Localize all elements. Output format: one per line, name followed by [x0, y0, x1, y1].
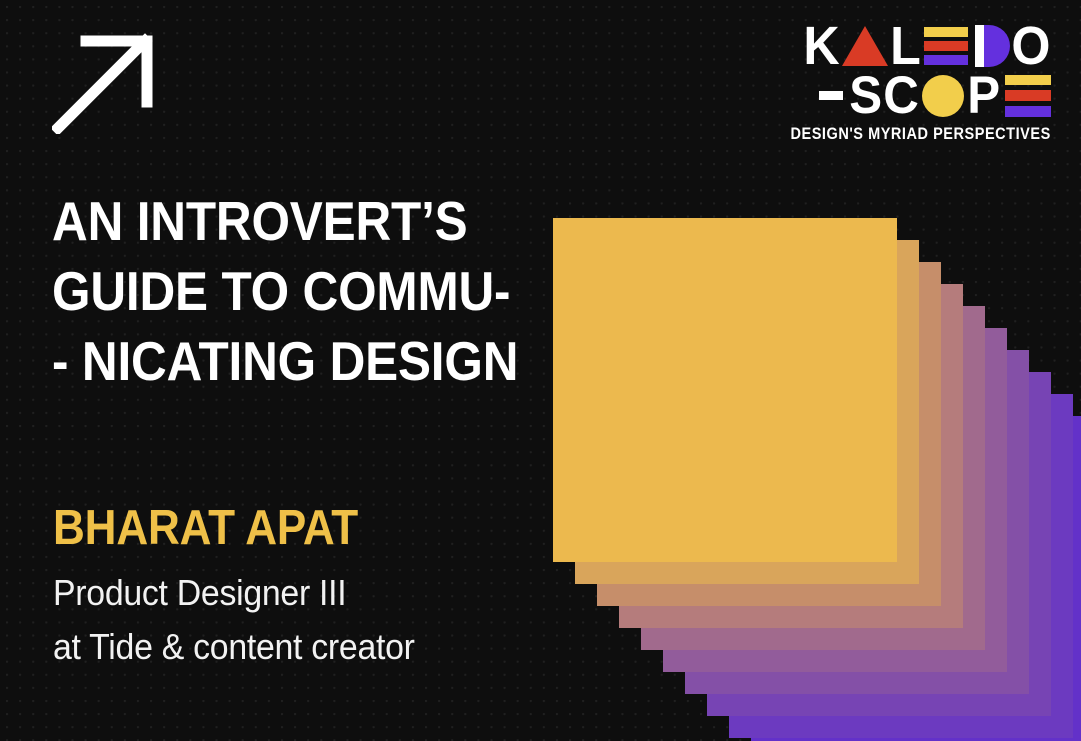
- logo-letter-e2-bars-icon: [1005, 75, 1051, 117]
- speaker-name: BHARAT APAT: [53, 500, 476, 556]
- logo-letter-a-triangle-icon: [842, 26, 888, 66]
- title-line-1: AN INTROVERT’S: [52, 186, 475, 256]
- logo-letter-s: S: [849, 73, 881, 119]
- title-line-3: - NICATING DESIGN: [52, 326, 475, 396]
- speaker-role: Product Designer III: [53, 566, 495, 620]
- logo-letter-c: C: [884, 73, 919, 119]
- page-title: AN INTROVERT’S GUIDE TO COMMU- - NICATIN…: [52, 186, 522, 396]
- logo-letter-o-disc-icon: [922, 75, 964, 117]
- arrow-up-right-icon: [52, 30, 156, 134]
- layered-card-stack: [553, 218, 897, 562]
- speaker-announcement-poster: K L O S C P DESIGN'S MYRIAD PERSPECTIVES…: [0, 0, 1081, 741]
- logo-line-kaleido: K L O: [802, 22, 1051, 69]
- logo-letter-o: O: [1011, 23, 1049, 69]
- logo-letter-d-halfdisc-icon: [984, 25, 1010, 67]
- speaker-info: BHARAT APAT Product Designer III at Tide…: [53, 500, 523, 674]
- logo-line-scope: S C P: [819, 73, 1051, 118]
- logo-letter-k: K: [803, 23, 838, 69]
- logo-tagline: DESIGN'S MYRIAD PERSPECTIVES: [791, 125, 1051, 144]
- logo-letter-d-stem-icon: [975, 25, 984, 67]
- logo-letter-p: P: [967, 73, 999, 119]
- speaker-organization: at Tide & content creator: [53, 620, 495, 674]
- logo-letter-l: L: [890, 23, 920, 69]
- logo-hyphen-icon: [819, 91, 843, 100]
- title-line-2: GUIDE TO COMMU-: [52, 256, 475, 326]
- logo-letter-e-bars-icon: [924, 26, 968, 66]
- stack-layer: [553, 218, 897, 562]
- kaleidoscope-logo: K L O S C P DESIGN'S MYRIAD PERSPECTIVES: [811, 22, 1051, 144]
